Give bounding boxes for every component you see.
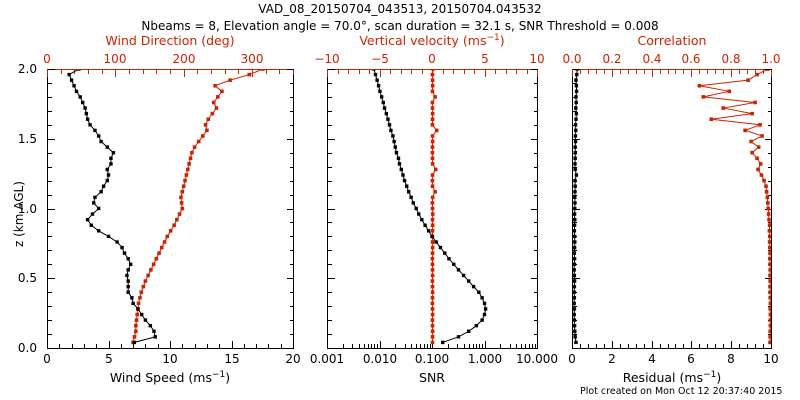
top-tick-minor [763,70,764,74]
y-tick-minor [768,348,772,349]
x-axis-title-wind: Wind Speed (ms−1) [110,370,230,385]
y-tick-minor [573,278,577,279]
x-tick-label: 0.100 [415,352,449,366]
y-tick-minor [48,167,52,168]
y-tick-minor [573,292,577,293]
y-tick-minor [534,111,538,112]
x-tick-label: 5 [105,352,113,366]
y-tick-minor [768,111,772,112]
y-tick-minor [328,83,332,84]
x-tick-minor [588,344,589,348]
y-tick-minor [768,125,772,126]
x-tick-minor [427,344,428,348]
y-tick-minor [768,222,772,223]
y-tick-minor [328,292,332,293]
y-tick-minor [768,69,772,70]
y-tick-minor [328,97,332,98]
x-tick-minor [432,344,433,348]
x-tick-minor [430,344,431,348]
top-tick-minor [739,70,740,74]
x-tick-minor [668,344,669,348]
y-tick-minor [328,153,332,154]
x-tick-minor [755,344,756,348]
top-tick-label: 0.6 [681,52,700,66]
y-tick-minor [48,139,52,140]
x-tick-minor [281,344,282,348]
y-tick-minor [290,320,294,321]
x-tick-minor [469,344,470,348]
x-tick-label: 0 [568,352,576,366]
x-tick-minor [516,344,517,348]
x-tick-label: 1.000 [468,352,502,366]
x-tick-minor [195,344,196,348]
y-tick-minor [534,334,538,335]
x-tick-minor [644,344,645,348]
top-tick-minor [401,70,402,74]
x-tick-minor [359,344,360,348]
x-tick-minor [683,344,684,348]
x-tick-minor [416,344,417,348]
y-tick-minor [768,306,772,307]
x-tick-minor [763,344,764,348]
y-tick-minor [534,97,538,98]
y-tick-minor [290,97,294,98]
y-tick-minor [328,139,332,140]
x-tick-label: 0.001 [310,352,344,366]
y-tick-minor [290,153,294,154]
top-tick-label: 0.8 [721,52,740,66]
top-tick-minor [143,70,144,74]
y-tick-minor [48,195,52,196]
x-axis-title-snr: SNR [419,370,445,385]
y-tick-minor [290,167,294,168]
x-tick-minor [580,344,581,348]
top-tick-minor [572,70,573,74]
y-tick-minor [573,209,577,210]
top-tick-minor [47,70,48,74]
top-tick-minor [453,70,454,74]
y-tick-minor [534,195,538,196]
y-tick-minor [48,209,52,210]
top-tick-label: 200 [173,52,196,66]
x-tick-minor [525,344,526,348]
y-tick-minor [768,195,772,196]
x-tick-minor [72,344,73,348]
x-tick-minor [380,344,381,348]
top-tick-minor [612,70,613,74]
top-tick-minor [699,70,700,74]
y-tick-minor [328,111,332,112]
top-tick-label: 0 [428,52,436,66]
y-tick-minor [48,264,52,265]
y-tick-minor [290,195,294,196]
y-tick-minor [573,195,577,196]
x-tick-label: 10 [162,352,177,366]
x-tick-minor [457,344,458,348]
top-tick-label: 10 [529,52,544,66]
top-tick-minor [668,70,669,74]
top-tick-minor [506,70,507,74]
y-tick-minor [48,292,52,293]
x-tick-label: 2 [608,352,616,366]
top-tick-minor [731,70,732,74]
top-tick-minor [747,70,748,74]
y-tick-minor [573,250,577,251]
top-tick-minor [422,70,423,74]
y-tick-label: 0.0 [0,341,37,355]
y-tick-minor [768,334,772,335]
top-tick-minor [644,70,645,74]
top-tick-minor [102,70,103,74]
y-tick-minor [534,153,538,154]
x-tick-minor [636,344,637,348]
x-tick-label: 4 [648,352,656,366]
y-tick-minor [48,320,52,321]
top-tick-minor [537,70,538,74]
top-tick-minor [390,70,391,74]
top-tick-minor [443,70,444,74]
y-tick-minor [534,209,538,210]
x-tick-minor [207,344,208,348]
plot-footer: Plot created on Mon Oct 12 20:37:40 2015 [580,386,782,397]
top-tick-minor [156,70,157,74]
x-tick-minor [158,344,159,348]
y-tick-minor [534,83,538,84]
y-tick-minor [328,320,332,321]
y-tick-minor [534,139,538,140]
x-tick-minor [731,344,732,348]
x-tick-label: 10.000 [516,352,558,366]
top-tick-label: 0.2 [602,52,621,66]
x-tick-minor [84,344,85,348]
y-tick-minor [48,348,52,349]
y-tick-minor [290,278,294,279]
x-tick-minor [377,344,378,348]
x-tick-minor [420,344,421,348]
y-tick-minor [534,181,538,182]
y-tick-minor [328,69,332,70]
y-tick-minor [328,236,332,237]
y-tick-minor [48,69,52,70]
x-axis-title-residual: Residual (ms−1) [623,370,722,385]
x-tick-minor [352,344,353,348]
x-tick-minor [364,344,365,348]
y-tick-minor [573,153,577,154]
x-tick-minor [371,344,372,348]
x-tick-minor [256,344,257,348]
y-tick-minor [290,125,294,126]
x-tick-minor [660,344,661,348]
top-tick-minor [432,70,433,74]
top-tick-minor [464,70,465,74]
y-tick-minor [573,222,577,223]
top-tick-minor [115,70,116,74]
x-tick-minor [424,344,425,348]
y-tick-minor [290,334,294,335]
x-tick-minor [596,344,597,348]
x-tick-minor [510,344,511,348]
x-tick-minor [411,344,412,348]
top-tick-minor [527,70,528,74]
y-tick-minor [328,181,332,182]
top-tick-minor [369,70,370,74]
x-tick-minor [715,344,716,348]
top-tick-minor [348,70,349,74]
x-tick-minor [448,344,449,348]
y-tick-minor [290,83,294,84]
top-tick-minor [74,70,75,74]
y-tick-minor [328,222,332,223]
x-tick-minor [628,344,629,348]
y-tick-minor [290,348,294,349]
y-tick-minor [328,125,332,126]
x-tick-minor [374,344,375,348]
x-tick-label: 15 [224,352,239,366]
top-tick-label: 5 [481,52,489,66]
top-tick-label: 300 [241,52,264,66]
y-tick-minor [768,250,772,251]
y-tick-minor [768,181,772,182]
y-tick-minor [48,334,52,335]
top-tick-minor [211,70,212,74]
top-tick-minor [596,70,597,74]
y-tick-minor [573,167,577,168]
x-tick-minor [121,344,122,348]
y-tick-minor [768,236,772,237]
x-tick-minor [170,344,171,348]
y-tick-minor [534,278,538,279]
y-tick-minor [534,222,538,223]
y-tick-label: 1.5 [0,132,37,146]
y-tick-minor [534,264,538,265]
panel-frame-residual [572,69,772,349]
y-tick-minor [534,125,538,126]
top-tick-minor [338,70,339,74]
top-tick-minor [252,70,253,74]
top-tick-minor [238,70,239,74]
top-tick-minor [88,70,89,74]
x-tick-minor [145,344,146,348]
y-tick-minor [534,69,538,70]
y-tick-minor [328,167,332,168]
panel-frame-snr [327,69,538,349]
y-axis-label: z (km AGL) [12,181,26,247]
x-tick-minor [244,344,245,348]
top-tick-minor [723,70,724,74]
y-tick-minor [290,222,294,223]
y-tick-minor [328,195,332,196]
x-tick-label: 6 [687,352,695,366]
y-tick-minor [290,209,294,210]
x-tick-minor [464,344,465,348]
y-tick-minor [290,292,294,293]
y-tick-minor [48,125,52,126]
top-tick-minor [604,70,605,74]
top-tick-minor [707,70,708,74]
top-tick-minor [636,70,637,74]
x-tick-minor [395,344,396,348]
top-tick-label: 1.0 [761,52,780,66]
x-tick-minor [739,344,740,348]
x-tick-minor [476,344,477,348]
top-tick-minor [266,70,267,74]
y-tick-minor [328,250,332,251]
y-tick-minor [534,250,538,251]
y-tick-minor [573,111,577,112]
y-tick-minor [573,348,577,349]
top-tick-minor [61,70,62,74]
plot-canvas: VAD_08_20150704_043513, 20150704.043532 … [0,0,800,400]
top-tick-label: −5 [371,52,389,66]
y-tick-minor [534,292,538,293]
top-tick-minor [683,70,684,74]
y-tick-minor [573,334,577,335]
top-tick-minor [620,70,621,74]
y-tick-minor [573,264,577,265]
x-tick-minor [343,344,344,348]
top-tick-minor [580,70,581,74]
top-tick-label: 0.0 [562,52,581,66]
x-tick-minor [691,344,692,348]
x-tick-minor [707,344,708,348]
x-tick-minor [612,344,613,348]
top-tick-minor [225,70,226,74]
top-tick-minor [516,70,517,74]
x-tick-minor [482,344,483,348]
top-tick-minor [628,70,629,74]
y-tick-minor [768,97,772,98]
panel-frame-wind [47,69,294,349]
top-tick-minor [197,70,198,74]
y-tick-minor [328,278,332,279]
x-tick-minor [219,344,220,348]
y-tick-minor [290,236,294,237]
top-tick-minor [715,70,716,74]
top-tick-minor [495,70,496,74]
y-tick-minor [768,264,772,265]
y-tick-minor [48,83,52,84]
y-tick-minor [768,320,772,321]
top-tick-minor [485,70,486,74]
top-tick-minor [170,70,171,74]
y-tick-minor [290,69,294,70]
top-tick-minor [184,70,185,74]
x-tick-label: 20 [285,352,300,366]
top-tick-minor [293,70,294,74]
y-tick-minor [328,306,332,307]
x-tick-minor [485,344,486,348]
x-tick-minor [675,344,676,348]
plot-title: VAD_08_20150704_043513, 20150704.043532 [258,2,541,16]
top-tick-minor [588,70,589,74]
y-tick-minor [290,139,294,140]
y-tick-minor [768,83,772,84]
y-tick-minor [48,306,52,307]
y-tick-minor [768,139,772,140]
x-tick-label: 8 [727,352,735,366]
x-tick-label: 10 [763,352,778,366]
y-tick-minor [573,69,577,70]
top-tick-minor [380,70,381,74]
top-axis-title-residual: Correlation [638,33,707,48]
x-tick-minor [529,344,530,348]
top-tick-minor [660,70,661,74]
y-tick-minor [534,306,538,307]
y-tick-label: 2.0 [0,62,37,76]
y-tick-minor [768,209,772,210]
top-tick-label: 0.4 [642,52,661,66]
top-tick-minor [755,70,756,74]
y-tick-minor [48,111,52,112]
y-tick-minor [573,181,577,182]
x-tick-minor [699,344,700,348]
y-tick-minor [573,236,577,237]
plot-subtitle: Nbeams = 8, Elevation angle = 70.0°, sca… [141,19,658,33]
x-tick-minor [268,344,269,348]
x-tick-minor [59,344,60,348]
y-tick-minor [768,153,772,154]
top-tick-minor [771,70,772,74]
y-tick-minor [48,236,52,237]
y-tick-minor [48,97,52,98]
top-axis-title-wind: Wind Direction (deg) [105,33,234,48]
x-tick-minor [500,344,501,348]
y-tick-minor [290,264,294,265]
y-tick-minor [48,181,52,182]
y-tick-minor [328,264,332,265]
x-tick-minor [604,344,605,348]
x-tick-minor [620,344,621,348]
y-tick-minor [768,278,772,279]
x-tick-minor [96,344,97,348]
x-tick-minor [723,344,724,348]
top-tick-label: 0 [43,52,51,66]
y-tick-minor [573,83,577,84]
x-tick-label: 0 [43,352,51,366]
x-tick-minor [109,344,110,348]
x-tick-minor [405,344,406,348]
top-tick-minor [675,70,676,74]
y-tick-minor [573,125,577,126]
y-tick-minor [48,222,52,223]
top-tick-minor [652,70,653,74]
x-tick-minor [473,344,474,348]
top-axis-title-snr: Vertical velocity (ms−1) [359,33,504,48]
y-tick-minor [328,348,332,349]
y-tick-minor [534,348,538,349]
y-tick-minor [534,320,538,321]
top-tick-minor [327,70,328,74]
x-tick-minor [368,344,369,348]
top-tick-minor [474,70,475,74]
x-tick-minor [479,344,480,348]
y-tick-minor [290,181,294,182]
y-tick-label: 0.5 [0,271,37,285]
top-tick-minor [279,70,280,74]
y-tick-minor [328,209,332,210]
y-tick-minor [573,97,577,98]
x-tick-minor [652,344,653,348]
top-tick-label: 100 [104,52,127,66]
top-tick-minor [129,70,130,74]
y-tick-minor [573,306,577,307]
x-tick-minor [182,344,183,348]
y-tick-minor [768,167,772,168]
y-tick-minor [573,320,577,321]
x-tick-minor [232,344,233,348]
top-tick-minor [691,70,692,74]
y-tick-minor [290,250,294,251]
